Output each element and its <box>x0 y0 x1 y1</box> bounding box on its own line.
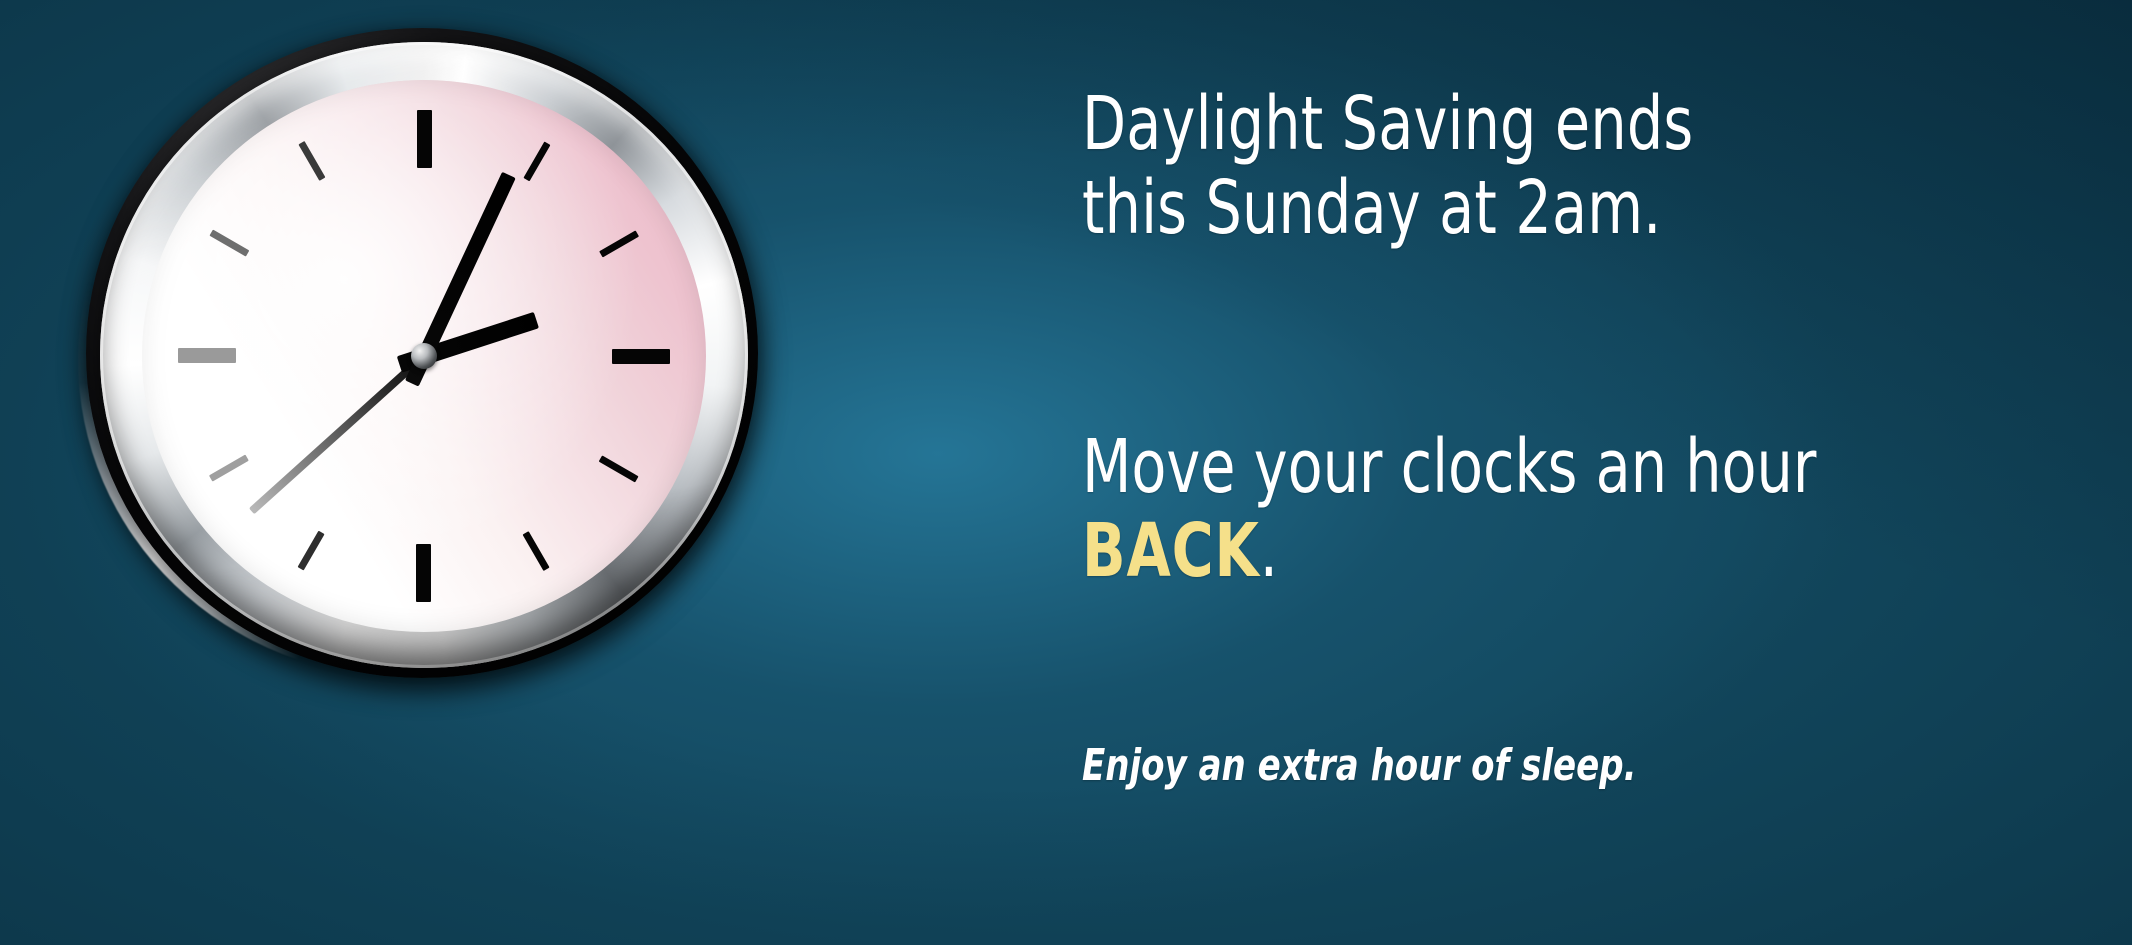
headline-text: Daylight Saving ends this Sunday at 2am. <box>1082 82 1925 251</box>
body-text: Move your clocks an hour BACK. <box>1082 425 2062 594</box>
announcement-banner: Daylight Saving ends this Sunday at 2am.… <box>0 0 2132 945</box>
clock-center-hub <box>411 343 437 369</box>
message-panel: Daylight Saving ends this Sunday at 2am.… <box>1082 0 2082 945</box>
subtext: Enjoy an extra hour of sleep. <box>1082 740 1925 791</box>
clock-dial <box>142 80 706 632</box>
body-suffix-text: . <box>1260 508 1278 594</box>
body-prefix-text: Move your clocks an hour <box>1082 424 1816 510</box>
body-emphasis-text: BACK <box>1082 508 1260 594</box>
clock-illustration <box>72 18 772 690</box>
